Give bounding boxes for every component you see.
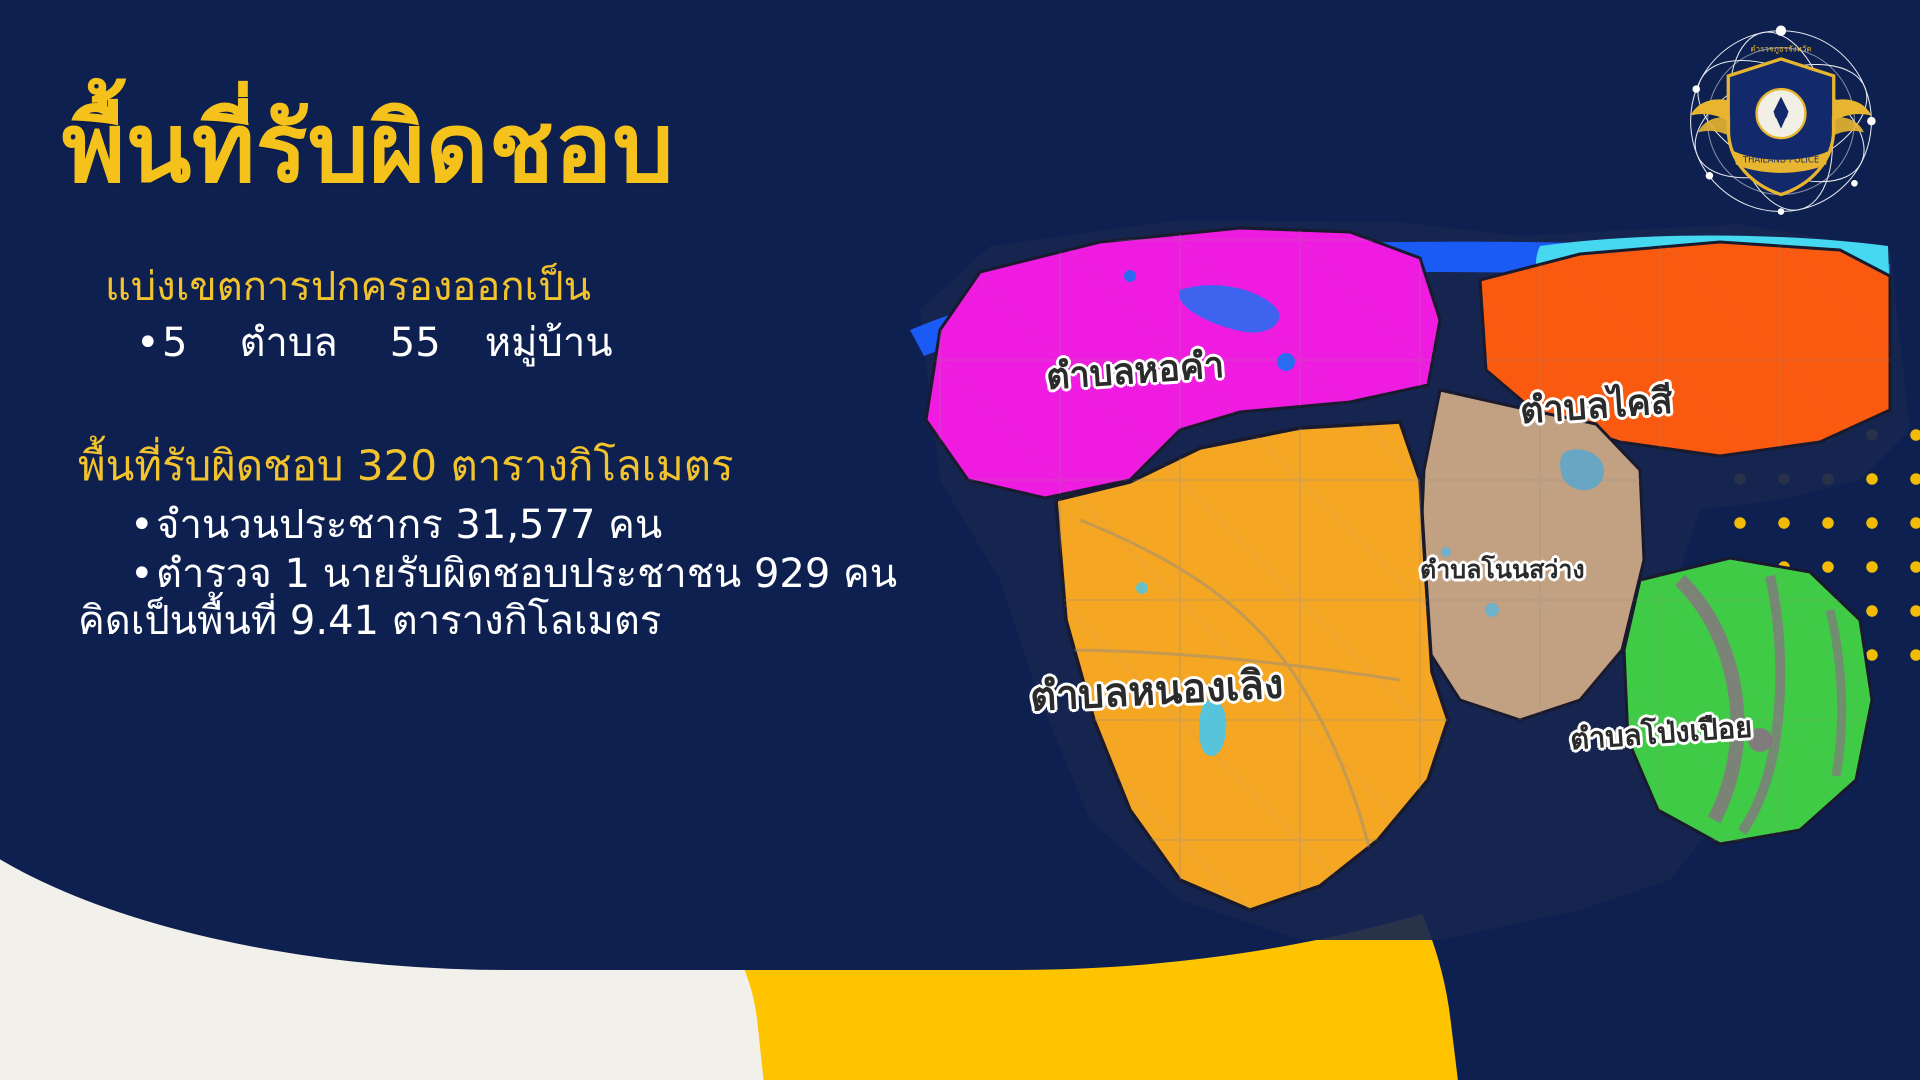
population-text: จำนวนประชากร 31,577 คน (156, 500, 662, 550)
tambon-count: 5 (162, 318, 187, 368)
text-column: พื้นที่รับผิดชอบ แบ่งเขตการปกครองออกเป็น… (0, 0, 950, 1080)
area-ratio-line: คิดเป็นพื้นที่ 9.41 ตารางกิโลเมตร (78, 596, 661, 646)
lead-line: แบ่งเขตการปกครองออกเป็น (105, 262, 591, 312)
page-title: พื้นที่รับผิดชอบ (62, 95, 674, 203)
bullet-marker-icon: • (130, 500, 156, 550)
slide-root: ตำบลหอคำ ตำบลไคสี ตำบลโนนสว่าง ตำบลหนองเ… (0, 0, 1920, 1080)
police-ratio-text: ตำรวจ 1 นายรับผิดชอบประชาชน 929 คน (156, 549, 897, 599)
emblem-banner-text: THAILAND POLICE (1742, 155, 1819, 165)
police-emblem-icon: THAILAND POLICE ตำรวจภูธรจังหวัด (1668, 10, 1894, 236)
list-item-administration: • 5 ตำบล 55 หมู่บ้าน (136, 318, 613, 368)
village-count: 55 (390, 318, 441, 368)
bullet-marker-icon: • (136, 318, 162, 368)
area-heading: พื้นที่รับผิดชอบ 320 ตารางกิโลเมตร (78, 440, 734, 493)
map-label-nonglerng: ตำบลหนองเลิง (1028, 651, 1284, 728)
bullet-marker-icon: • (130, 549, 156, 599)
map-label-nonsawang: ตำบลโนนสว่าง (1420, 550, 1585, 590)
list-item-police-ratio: • ตำรวจ 1 นายรับผิดชอบประชาชน 929 คน (130, 549, 897, 599)
map-illustration (880, 180, 1920, 1000)
district-map: ตำบลหอคำ ตำบลไคสี ตำบลโนนสว่าง ตำบลหนองเ… (880, 180, 1920, 1000)
list-item-population: • จำนวนประชากร 31,577 คน (130, 500, 662, 550)
village-label: หมู่บ้าน (485, 318, 613, 368)
police-emblem-logo: THAILAND POLICE ตำรวจภูธรจังหวัด (1668, 10, 1894, 236)
map-label-khaisi: ตำบลไคสี (1518, 372, 1674, 440)
tambon-label: ตำบล (239, 318, 337, 368)
emblem-top-text: ตำรวจภูธรจังหวัด (1750, 44, 1811, 54)
